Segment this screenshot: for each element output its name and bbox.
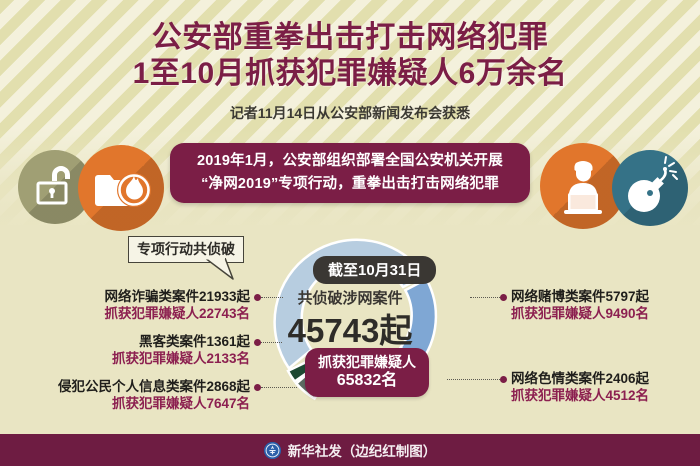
leader-dot-gambling [500,294,507,301]
leader-line-fraud [261,297,283,298]
banner-line-2: “净网2019”专项行动，重拳出击打击网络犯罪 [201,173,499,196]
banner-line-1: 2019年1月，公安部组织部署全国公安机关开展 [197,150,503,173]
stat-fraud-cases: 网络诈骗类案件21933起 [20,288,250,305]
campaign-banner: 2019年1月，公安部组织部署全国公安机关开展 “净网2019”专项行动，重拳出… [170,143,530,203]
stat-hacker-cases: 黑客类案件1361起 [20,333,250,350]
xinhua-logo-icon [264,442,281,459]
leader-line-porn [447,379,500,380]
infographic-canvas: 公安部重拳出击打击网络犯罪 1至10月抓获犯罪嫌疑人6万余名 记者11月14日从… [0,0,700,466]
title-line-1: 公安部重拳出击打击网络犯罪 [0,20,700,56]
leader-dot-porn [500,376,507,383]
stat-gambling-suspects: 抓获犯罪嫌疑人9490名 [511,305,696,322]
stat-hacker-suspects: 抓获犯罪嫌疑人2133名 [20,350,250,367]
leader-dot-personal-info [254,384,261,391]
leader-dot-hacker [254,339,261,346]
leader-dot-fraud [254,294,261,301]
stat-hacker: 黑客类案件1361起 抓获犯罪嫌疑人2133名 [20,333,250,367]
subtitle: 记者11月14日从公安部新闻发布会获悉 [0,103,700,123]
bomb-icon [612,150,688,226]
stat-porn-cases: 网络色情类案件2406起 [511,370,696,387]
date-pill: 截至10月31日 [313,256,436,284]
leader-line-gambling [470,297,500,298]
footer: 新华社发（边纪红制图） [0,434,700,466]
folder-fire-icon [78,145,164,231]
leader-line-hacker [261,342,282,343]
stat-personal-info: 侵犯公民个人信息类案件2868起 抓获犯罪嫌疑人7647名 [4,378,250,412]
stat-gambling: 网络赌博类案件5797起 抓获犯罪嫌疑人9490名 [511,288,696,322]
callout-tail-icon [205,258,235,280]
suspects-pill-value: 65832名 [315,371,419,391]
stat-fraud: 网络诈骗类案件21933起 抓获犯罪嫌疑人22743名 [20,288,250,322]
suspects-pill: 抓获犯罪嫌疑人 65832名 [305,348,429,397]
leader-line-personal-info [261,387,297,388]
stat-gambling-cases: 网络赌博类案件5797起 [511,288,696,305]
stat-porn-suspects: 抓获犯罪嫌疑人4512名 [511,387,696,404]
stat-personal-info-suspects: 抓获犯罪嫌疑人7647名 [4,395,250,412]
stat-fraud-suspects: 抓获犯罪嫌疑人22743名 [20,305,250,322]
stat-porn: 网络色情类案件2406起 抓获犯罪嫌疑人4512名 [511,370,696,404]
suspects-pill-label: 抓获犯罪嫌疑人 [315,353,419,371]
page-title: 公安部重拳出击打击网络犯罪 1至10月抓获犯罪嫌疑人6万余名 [0,20,700,92]
title-line-2: 1至10月抓获犯罪嫌疑人6万余名 [0,56,700,92]
footer-text: 新华社发（边纪红制图） [288,440,437,460]
stat-personal-info-cases: 侵犯公民个人信息类案件2868起 [4,378,250,395]
